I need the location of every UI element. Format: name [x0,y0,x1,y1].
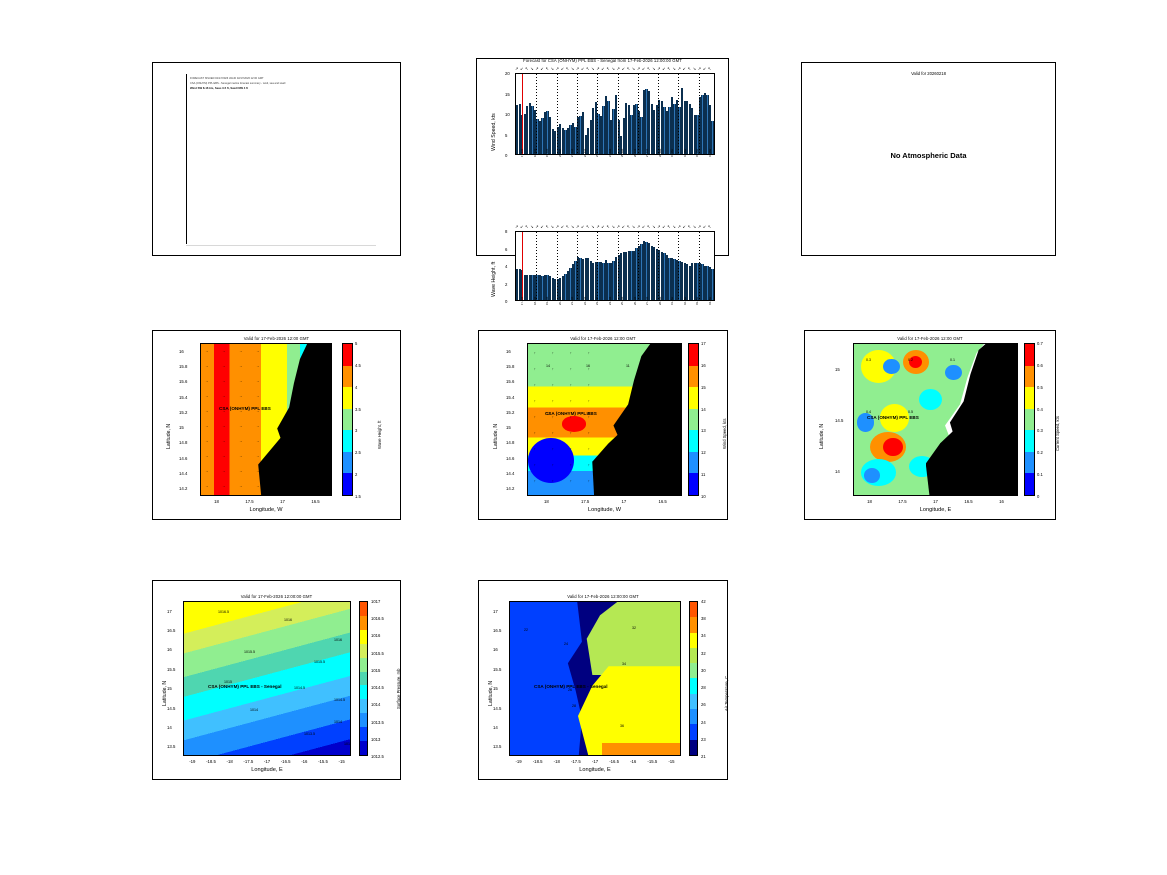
surface-pressure-map-panel: Valid for 17-Feb-2026 12:00:00 GMT 1016.… [152,580,401,780]
timeseries-title: Forecast for CSA (ONHYM) PPL EBS - Seneg… [477,58,728,63]
colorbar-segment [689,409,698,431]
date-tick: 26-Feb [634,149,637,157]
direction-arrow-icon: ↗ [596,223,599,231]
direction-arrow-icon: ↖ [586,223,589,231]
pressure-contour-label: 1013.5 [304,732,315,736]
x-tick: -18.5 [202,759,220,764]
y-tick: 14 [835,469,840,474]
wave-direction-arrow-icon: → [239,440,243,444]
y-tick: 14.5 [167,706,175,711]
colorbar-segment [689,387,698,409]
wind-direction-arrow-icon: ↑ [534,464,536,468]
date-tick: 25-Feb [621,297,624,305]
colorbar-tick: 0 [1037,494,1039,499]
colorbar-tick: 1014 [371,702,380,707]
y-tick: 15.5 [167,667,175,672]
colorbar-tick: 1.5 [355,494,361,499]
x-tick: -17 [258,759,276,764]
temp-contour-label: 36 [620,724,624,728]
wave-direction-arrow-icon: → [222,485,226,489]
x-tick: -15.5 [314,759,332,764]
wind-direction-arrow-icon: ↑ [534,448,536,452]
wind-contour-label: 16 [586,364,590,368]
direction-arrow-icon: ↙ [601,223,604,231]
y-tick: 17 [493,609,498,614]
direction-arrow-icon: ↘ [571,223,574,231]
pressure-contour-label: 1016 [284,618,292,622]
colorbar-tick: 0.4 [1037,407,1043,412]
x-tick: -17.5 [239,759,257,764]
direction-arrow-icon: ↙ [642,223,645,231]
wind-direction-arrow-icon: ↑ [534,400,536,404]
direction-arrow-icon: ↗ [637,65,640,73]
pressure-map-colorbar-title: Surface Pressure, mb [396,669,401,710]
wave-direction-arrow-icon: → [222,350,226,354]
wave-map-colorbar-title: Wave Height, ft [377,421,382,449]
colorbar-tick: 3.5 [355,407,361,412]
direction-arrow-icon: ↖ [708,223,711,231]
direction-arrow-icon: ↙ [703,223,706,231]
direction-arrow-icon: ↙ [683,223,686,231]
direction-arrow-icon: ↖ [606,65,609,73]
y-tick: 15 [179,425,184,430]
wave-direction-arrow-icon: → [239,425,243,429]
wave-direction-arrow-icon: → [239,395,243,399]
y-tick: 16 [179,349,184,354]
temp-map-colorbar [689,601,698,756]
y-tick: 14 [167,725,172,730]
wind-ytick: 0 [505,153,507,158]
colorbar-tick: 0.6 [1037,363,1043,368]
wind-map-ylabel: Latitude, N [493,424,499,449]
x-tick: -15.5 [643,759,661,764]
wave-direction-arrow-icon: → [256,365,260,369]
wind-direction-arrow-icon: ↑ [534,384,536,388]
colorbar-tick: 1013.5 [371,720,384,725]
colorbar-tick: 4.5 [355,363,361,368]
wave-map-axes: →→→→→→→→→→→→→→→→→→→→→→→→→→→→→→→→→→→→→→→→… [200,343,332,496]
wave-ytick: 6 [505,247,507,252]
wind-direction-arrow-icon: ↑ [552,416,554,420]
day-gridline [597,74,598,154]
colorbar-tick: 28 [701,685,706,690]
no-atmospheric-data-message: No Atmospheric Data [802,151,1055,160]
temp-map-site-label: CSA (ONHYM) PPL EBS - Senegal [534,684,608,689]
direction-arrow-icon: ↙ [540,223,543,231]
pressure-field [184,602,350,755]
date-tick: 17-Feb [521,149,524,157]
colorbar-segment [690,602,697,617]
y-tick: 14.5 [493,706,501,711]
wave-direction-arrow-icon: → [256,485,260,489]
direction-arrow-icon: ↗ [677,223,680,231]
colorbar-tick: 1015 [371,668,380,673]
wave-direction-arrow-icon: → [222,455,226,459]
day-gridline [699,232,700,300]
wave-direction-arrow-icon: → [239,380,243,384]
direction-arrow-icon: ↖ [688,65,691,73]
wave-direction-arrow-icon: → [205,380,209,384]
wind-map-axes: ↑↑↑↑↑↑↑↑↑↑↑↑↑↑↑↑↑↑↑↑↑↑↑↑↑↑↑↑↑↑↑↑↑↑↑↑1416… [527,343,682,496]
colorbar-segment [1025,409,1034,431]
wind-ytick: 15 [505,92,510,97]
wave-height-map-panel: Valid for 17-Feb-2026 12:00 GMT →→→→→→→→… [152,330,401,520]
wave-direction-arrow-icon: → [256,425,260,429]
x-tick: -18.5 [529,759,547,764]
wind-direction-arrow-icon: ↑ [570,384,572,388]
direction-arrow-icon: ↗ [556,65,559,73]
direction-arrow-icon: ↗ [535,65,538,73]
wave-direction-arrow-icon: → [205,470,209,474]
wave-map-colorbar [342,343,353,496]
direction-arrow-icon: ↙ [642,65,645,73]
x-tick: -15 [333,759,351,764]
x-tick: -16.5 [277,759,295,764]
date-tick: 27-Feb [646,149,649,157]
y-tick: 15.2 [179,410,187,415]
colorbar-segment [690,678,697,693]
colorbar-tick: 3 [355,428,357,433]
direction-arrow-icon: ↘ [652,223,655,231]
wave-direction-arrow-icon: → [205,440,209,444]
wind-ytick: 20 [505,71,510,76]
direction-arrow-icon: ↙ [662,223,665,231]
y-tick: 16.5 [167,628,175,633]
wave-map-title: Valid for 17-Feb-2026 12:00 GMT [153,336,400,341]
wave-map-xlabel: Longitude, W [200,507,332,513]
direction-arrow-icon: ↗ [657,223,660,231]
x-tick: 17.5 [241,499,259,504]
y-tick: 15.2 [506,410,514,415]
colorbar-tick: 17 [701,341,706,346]
y-tick: 15.4 [179,395,187,400]
current-time-line [522,74,523,154]
pressure-map-colorbar [359,601,368,756]
colorbar-tick: 5 [355,341,357,346]
temp-map-axes: 22323436242628 [509,601,681,756]
date-tick: 28-Feb [659,297,662,305]
direction-arrow-icon: ↖ [566,223,569,231]
colorbar-segment [360,699,367,713]
wave-direction-arrow-icon: → [239,455,243,459]
direction-arrow-icon: ↗ [617,65,620,73]
day-gridline [597,232,598,300]
colorbar-segment [689,366,698,388]
direction-arrow-icon: ↗ [698,223,701,231]
x-tick: 18 [861,499,879,504]
wind-high-core [562,416,586,431]
direction-arrow-icon: ↖ [606,223,609,231]
direction-arrow-icon: ↘ [632,223,635,231]
current-contour-blob [864,468,880,483]
current-map-title: Valid for 17-Feb-2026 12:00 GMT [805,336,1055,341]
colorbar-segment [690,633,697,648]
direction-arrow-icon: ↗ [515,65,518,73]
wave-ytick: 8 [505,229,507,234]
pressure-contour-label: 1014.5 [334,698,345,702]
temp-contour-label: 32 [632,626,636,630]
wind-direction-arrow-icon: ↑ [588,384,590,388]
colorbar-segment [1025,473,1034,495]
wind-direction-arrow-icon: ↑ [534,432,536,436]
x-tick: -16.5 [605,759,623,764]
x-tick: 16 [993,499,1011,504]
direction-arrow-icon: ↖ [708,65,711,73]
direction-arrow-icon: ↘ [551,223,554,231]
pressure-map-xlabel: Longitude, E [183,767,351,773]
wave-direction-arrow-icon: → [205,395,209,399]
wind-direction-arrow-icon: ↑ [570,416,572,420]
wind-direction-arrow-icon: ↑ [588,448,590,452]
wave-direction-arrow-icon: → [222,365,226,369]
wind-map-title: Valid for 17-Feb-2026 12:00 GMT [479,336,727,341]
colorbar-segment [1025,366,1034,388]
wind-map-colorbar-title: Wind Speed, kts [722,419,727,450]
direction-arrow-icon: ↘ [672,223,675,231]
direction-arrow-icon: ↙ [581,223,584,231]
wave-map-ylabel: Latitude, N [166,424,172,449]
temp-contour-label: 22 [524,628,528,632]
wind-direction-arrow-icon: ↑ [588,432,590,436]
current-map-ylabel: Latitude, N [819,424,825,449]
colorbar-tick: 11 [701,472,705,477]
date-tick: 21-Feb [571,149,574,157]
direction-arrow-icon: ↖ [545,223,548,231]
y-tick: 15.4 [506,395,514,400]
temp-map-colorbar-title: Air Temperature, C [724,676,729,711]
current-contour-label: 0.3 [866,358,871,362]
direction-arrow-icon: ↖ [688,223,691,231]
colorbar-tick: 21 [701,754,706,759]
date-tick: 23-Feb [596,149,599,157]
wind-direction-arrow-icon: ↑ [534,480,536,484]
colorbar-tick: 23 [701,737,706,742]
wind-ytick: 5 [505,133,507,138]
direction-arrow-icon: ↙ [601,65,604,73]
day-gridline [536,74,537,154]
colorbar-tick: 34 [701,633,706,638]
date-tick: 20-Feb [559,297,562,305]
date-tick: 03-Mar [696,149,699,157]
report-line-1: FORECAST ISSUED 02/17/2026 VALID 02/17/2… [190,77,264,80]
wind-speed-subplot [515,73,715,155]
wind-map-site-label: CSA (ONHYM) PPL EBS [545,411,597,416]
pressure-map-axes: 1016.5101610161015.51015.5101510151014.5… [183,601,351,756]
colorbar-tick: 15 [701,385,706,390]
direction-arrow-icon: ↘ [672,65,675,73]
report-bottom-rule [186,245,376,246]
pressure-contour-label: 1015.5 [314,660,325,664]
date-tick: 25-Feb [621,149,624,157]
wave-direction-arrow-icon: → [205,455,209,459]
report-line-3: Wind SW 8-16 kts, Seas 3-5 ft, Swell NW … [190,87,248,90]
wave-height-ylabel: Wave Height, ft [491,262,497,297]
wave-direction-arrow-icon: → [205,425,209,429]
date-tick: 28-Feb [659,149,662,157]
wind-map-xlabel: Longitude, W [527,507,682,513]
colorbar-segment [690,694,697,709]
colorbar-segment [343,430,352,452]
date-tick: 19-Feb [546,149,549,157]
colorbar-tick: 0.7 [1037,341,1043,346]
wind-direction-arrow-icon: ↑ [570,400,572,404]
colorbar-segment [360,713,367,727]
date-tick: 03-Mar [696,297,699,305]
date-tick: 24-Feb [609,149,612,157]
date-tick: 01-Mar [671,149,674,157]
x-tick: 17 [274,499,292,504]
colorbar-tick: 4 [355,385,357,390]
direction-arrow-icon: ↘ [632,65,635,73]
colorbar-tick: 12 [701,450,706,455]
colorbar-tick: 13 [701,428,706,433]
wave-ytick: 0 [505,299,507,304]
current-contour-label: 0.1 [950,358,955,362]
x-tick: 18 [537,499,555,504]
direction-arrow-icon: ↖ [545,65,548,73]
date-tick: 26-Feb [634,297,637,305]
direction-arrow-icon: ↗ [515,223,518,231]
colorbar-tick: 1017 [371,599,380,604]
direction-arrow-icon: ↖ [525,223,528,231]
y-tick: 14.5 [835,418,843,423]
x-tick: 17 [615,499,633,504]
atmos-valid-title: Valid for 20260218 [802,71,1055,76]
wave-direction-arrow-icon: → [273,455,277,459]
date-tick: 02-Mar [684,297,687,305]
colorbar-segment [360,727,367,741]
direction-arrow-icon: ↘ [591,65,594,73]
day-gridline [638,74,639,154]
wave-direction-arrow-icon: → [239,485,243,489]
direction-arrow-icon: ↗ [617,223,620,231]
day-gridline [699,74,700,154]
wind-contour-label: 15 [626,412,630,416]
colorbar-tick: 1016 [371,633,380,638]
wave-direction-arrow-icon: → [256,455,260,459]
y-tick: 14.8 [179,440,187,445]
direction-arrow-icon: ↙ [540,65,543,73]
wave-direction-arrow-icon: → [273,470,277,474]
current-contour-blob [883,359,899,374]
direction-arrow-icon: ↗ [698,65,701,73]
direction-arrow-icon: ↙ [622,65,625,73]
direction-arrow-icon: ↖ [586,65,589,73]
pressure-map-site-label: CSA (ONHYM) PPL EBS - Senegal [208,684,282,689]
day-gridline [577,232,578,300]
colorbar-segment [1025,452,1034,474]
colorbar-tick: 0.5 [1037,385,1043,390]
wind-direction-arrow-icon: ↑ [570,480,572,484]
colorbar-segment [360,741,367,755]
day-gridline [618,74,619,154]
wind-direction-arrow-icon: ↑ [588,416,590,420]
temp-map-title: Valid for 17-Feb-2026 12:00:00 GMT [479,594,727,599]
y-tick: 14.8 [506,440,514,445]
wind-direction-arrow-row: ↗↙↖↘↗↙↖↘↗↙↖↘↗↙↖↘↗↙↖↘↗↙↖↘↗↙↖↘↗↙↖↘↗↙↖↘↗↙↖ [515,65,715,73]
direction-arrow-icon: ↙ [581,65,584,73]
air-temperature-map-panel: Valid for 17-Feb-2026 12:00:00 GMT 22323… [478,580,728,780]
current-contour-label: 0.2 [908,358,913,362]
y-tick: 17 [167,609,172,614]
date-tick: 02-Mar [684,149,687,157]
pressure-contour-label: 1013 [344,742,351,746]
direction-arrow-icon: ↗ [576,65,579,73]
wind-direction-arrow-icon: ↑ [552,464,554,468]
y-tick: 15 [506,425,511,430]
colorbar-tick: 42 [701,599,706,604]
date-tick: 20-Feb [559,149,562,157]
wave-direction-arrow-icon: → [205,365,209,369]
day-gridline [678,232,679,300]
wind-contour-label: 14 [546,364,550,368]
day-gridline [658,232,659,300]
y-tick: 13.5 [493,744,501,749]
wind-map-colorbar [688,343,699,496]
colorbar-segment [343,409,352,431]
bar [711,269,713,300]
wind-ytick: 10 [505,112,510,117]
colorbar-segment [343,452,352,474]
current-map-colorbar-title: Current Speed, kts [1055,416,1060,451]
y-tick: 15.6 [179,379,187,384]
colorbar-segment [343,473,352,495]
wind-direction-arrow-icon: ↑ [570,432,572,436]
y-tick: 16 [167,647,172,652]
x-tick: -16 [295,759,313,764]
direction-arrow-icon: ↖ [647,223,650,231]
wind-direction-arrow-icon: ↑ [588,400,590,404]
wave-direction-arrow-icon: → [222,470,226,474]
colorbar-segment [690,663,697,678]
colorbar-segment [1025,387,1034,409]
direction-arrow-icon: ↖ [647,65,650,73]
colorbar-tick: 30 [701,668,706,673]
y-tick: 15.8 [506,364,514,369]
day-gridline [658,74,659,154]
direction-arrow-icon: ↘ [693,65,696,73]
current-speed-map-panel: Valid for 17-Feb-2026 12:00 GMT 0.30.20.… [804,330,1056,520]
wave-direction-arrow-icon: → [222,380,226,384]
colorbar-segment [689,430,698,452]
wind-direction-arrow-icon: ↑ [552,384,554,388]
direction-arrow-icon: ↙ [520,223,523,231]
colorbar-tick: 32 [701,651,706,656]
direction-arrow-icon: ↗ [677,65,680,73]
direction-arrow-icon: ↙ [683,65,686,73]
x-tick: -17.5 [567,759,585,764]
current-contour-label: 0.5 [908,410,913,414]
wind-direction-arrow-icon: ↑ [570,448,572,452]
y-tick: 15.8 [179,364,187,369]
y-tick: 14.2 [179,486,187,491]
x-tick: 16.5 [307,499,325,504]
pressure-map-ylabel: Latitude, N [162,681,168,706]
day-gridline [618,232,619,300]
temp-contour-label: 28 [572,704,576,708]
x-tick: -17 [586,759,604,764]
colorbar-tick: 1015.5 [371,651,384,656]
colorbar-segment [690,709,697,724]
direction-arrow-icon: ↘ [551,65,554,73]
day-gridline [638,232,639,300]
date-tick: 27-Feb [646,297,649,305]
colorbar-tick: 24 [701,720,706,725]
direction-arrow-icon: ↙ [662,65,665,73]
colorbar-segment [690,617,697,632]
colorbar-tick: 10 [701,494,706,499]
x-tick: 17.5 [576,499,594,504]
